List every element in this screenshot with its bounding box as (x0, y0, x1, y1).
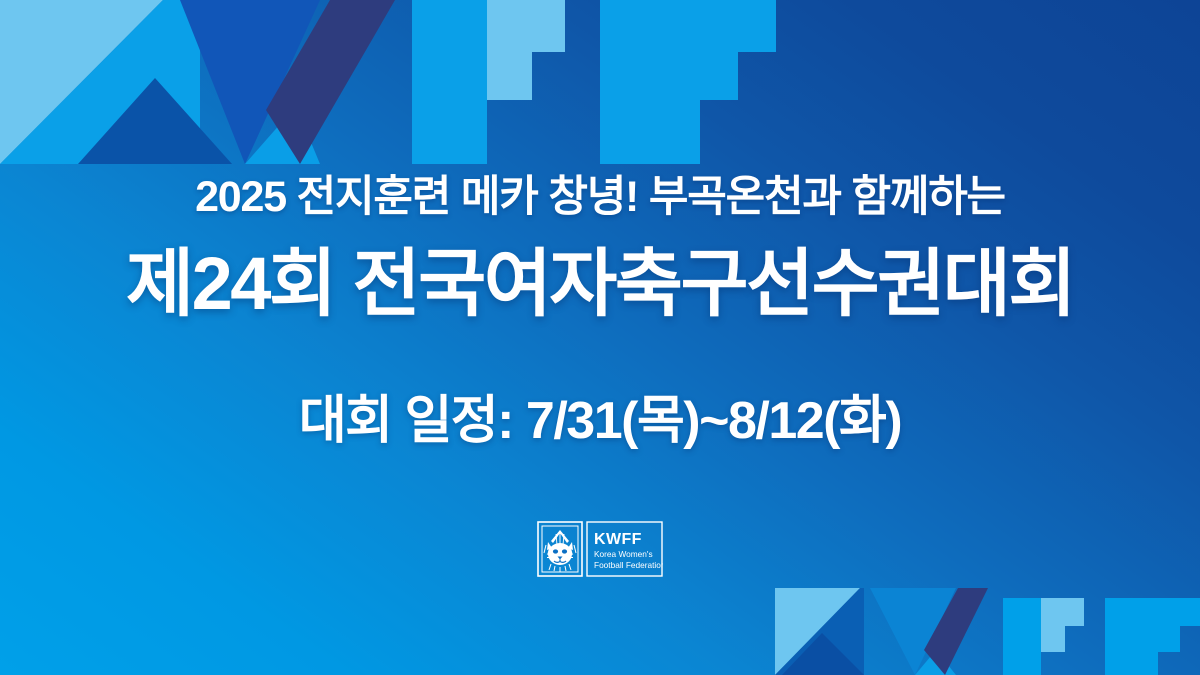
f2-top-arm (1158, 598, 1200, 626)
logo-org-line2: Football Federation (594, 560, 663, 570)
f2-mid-arm (700, 52, 738, 100)
logo-acronym: KWFF (594, 531, 642, 548)
f1-top-arm (1041, 598, 1084, 626)
f2-stem (1105, 598, 1158, 675)
banner-date-line: 대회 일정: 7/31(목)~8/12(화) (0, 395, 1200, 447)
f1-stem (412, 0, 487, 164)
f1-top-arm (487, 0, 565, 52)
kwff-letterform-graphic-top (0, 0, 790, 164)
tiger-head-emblem (538, 522, 582, 576)
f2-stem (600, 0, 700, 164)
logo-org-line1: Korea Women's (594, 549, 653, 559)
banner-canvas: 2025 전지훈련 메카 창녕! 부곡온천과 함께하는 제24회 전국여자축구선… (0, 0, 1200, 675)
f1-stem (1003, 598, 1041, 675)
banner-main-title: 제24회 전국여자축구선수권대회 (0, 247, 1200, 321)
f2-top-arm (700, 0, 776, 52)
kwff-letterform-graphic-bottom (760, 588, 1200, 675)
kwff-federation-logo: KWFF Korea Women's Football Federation (537, 519, 663, 579)
f2-mid-arm (1158, 626, 1180, 652)
f1-mid-arm (487, 52, 532, 100)
f1-mid-arm (1041, 626, 1065, 652)
banner-subtitle: 2025 전지훈련 메카 창녕! 부곡온천과 함께하는 (0, 176, 1200, 219)
